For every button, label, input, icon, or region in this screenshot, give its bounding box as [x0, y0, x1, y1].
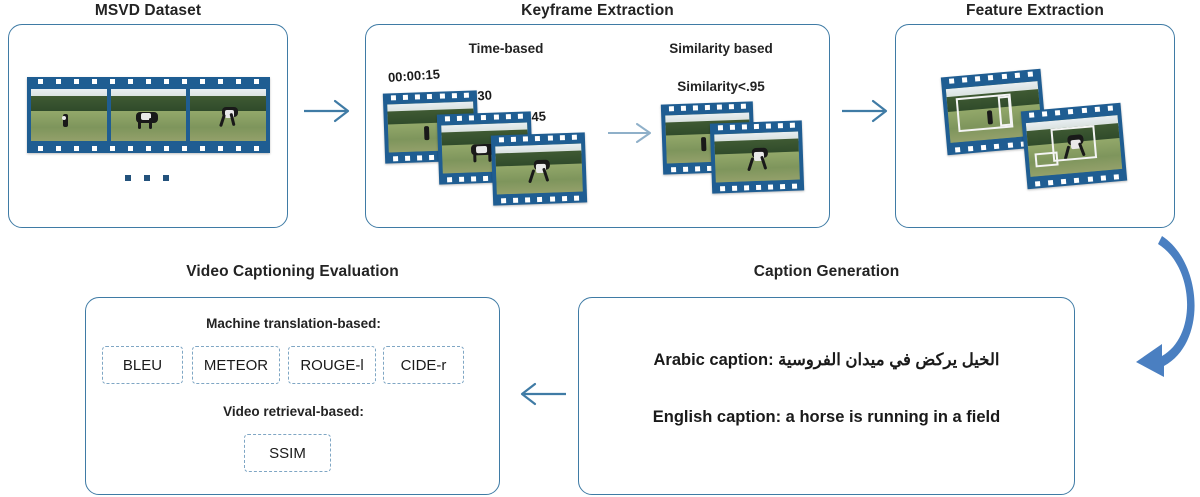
keyframe-panel: Time-based Similarity based Similarity<.… — [365, 24, 830, 228]
time-based-label: Time-based — [406, 41, 606, 56]
feature-frame-2 — [1021, 103, 1127, 189]
arrow-feature-to-caption — [1128, 232, 1200, 377]
caption-title: Caption Generation — [578, 263, 1075, 281]
similarity-threshold-label: Similarity<.95 — [631, 79, 811, 94]
dataset-title: MSVD Dataset — [8, 2, 288, 20]
sprocket-holes-top — [383, 91, 477, 101]
feature-title: Feature Extraction — [895, 2, 1175, 20]
metric-chip-bleu[interactable]: BLEU — [102, 346, 183, 384]
detection-box — [1034, 152, 1059, 168]
arrow-keyframe-to-feature — [840, 96, 898, 126]
video-frame — [1026, 115, 1122, 177]
sprocket-holes-top — [27, 78, 270, 85]
retrieval-group-label: Video retrieval-based: — [86, 404, 501, 419]
video-frame — [495, 144, 583, 195]
video-frame — [714, 132, 800, 183]
arrow-caption-to-evaluation — [508, 378, 570, 410]
timestamp-1: 00:00:15 — [387, 66, 440, 85]
keyframe-similarity-frame-2 — [710, 120, 804, 193]
arrow-time-to-similarity — [606, 119, 662, 147]
video-frame — [190, 89, 266, 141]
metric-chip-cide-r[interactable]: CIDE-r — [383, 346, 464, 384]
caption-panel: Arabic caption: الخيل يركض في ميدان الفر… — [578, 297, 1075, 495]
arrow-dataset-to-keyframe — [302, 96, 360, 126]
sprocket-holes-bottom — [27, 145, 270, 152]
arabic-caption: Arabic caption: الخيل يركض في ميدان الفر… — [579, 350, 1074, 370]
video-frame — [111, 89, 187, 141]
feature-panel — [895, 24, 1175, 228]
dataset-ellipsis — [125, 175, 169, 181]
metric-chip-meteor[interactable]: METEOR — [192, 346, 280, 384]
dataset-panel — [8, 24, 288, 228]
video-frame — [31, 89, 107, 141]
similarity-based-label: Similarity based — [631, 41, 811, 56]
metric-chip-ssim[interactable]: SSIM — [244, 434, 331, 472]
filmstrip-frames — [27, 89, 270, 141]
keyframe-title: Keyframe Extraction — [365, 2, 830, 20]
evaluation-title: Video Captioning Evaluation — [85, 263, 500, 281]
english-caption: English caption: a horse is running in a… — [579, 408, 1074, 427]
dataset-filmstrip — [27, 77, 270, 153]
keyframe-time-frame-3 — [491, 132, 587, 205]
detection-box — [997, 95, 1012, 126]
metric-chip-rouge-l[interactable]: ROUGE-l — [288, 346, 376, 384]
evaluation-panel: Machine translation-based: BLEU METEOR R… — [85, 297, 500, 495]
mt-group-label: Machine translation-based: — [86, 316, 501, 331]
